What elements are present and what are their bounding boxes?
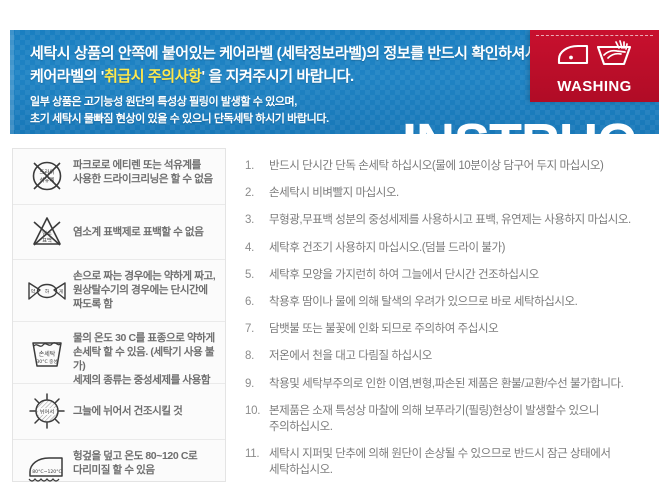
- list-item-text: 세탁후 모양을 가지런히 하여 그늘에서 단시간 건조하십시오: [269, 267, 655, 283]
- list-item-number: 2.: [245, 185, 269, 201]
- care-symbol-row: 염소 표백 염소계 표백제로 표백할 수 없음: [13, 205, 225, 261]
- care-instruction-banner: INSTRUC 세탁시 상품의 안쪽에 붙어있는 케어라벨 (세탁정보라벨)의 …: [10, 30, 659, 134]
- banner-line-2-highlight: 취급시 주의사항: [104, 68, 202, 85]
- list-item-text: 세탁후 건조기 사용하지 마십시오.(덤블 드라이 불가): [269, 240, 655, 256]
- care-symbol-row: 80°C~120°C 헝겊을 덮고 온도 80~120 C로 다리미질 할 수 …: [13, 440, 225, 498]
- care-symbol-row: 손세탁 30°C 중성 물의 온도 30 C를 표종으로 약하게 손세탁 할 수…: [13, 322, 225, 384]
- list-item: 3. 무형광,무표백 성분의 중성세제를 사용하시고 표백, 유연제는 사용하지…: [245, 212, 655, 228]
- list-item-line: 주의하십시오.: [269, 419, 655, 435]
- washing-badge: WASHING: [530, 30, 659, 102]
- care-symbol-line: 헝겊을 덮고 온도 80~120 C로: [73, 450, 197, 462]
- care-symbol-panel: 드라이 석유계 파크로로 에티렌 또는 석유계를 사용한 드라이크리닝은 할 수…: [12, 148, 226, 482]
- list-item-number: 9.: [245, 376, 269, 392]
- care-symbol-line: 파크로로 에티렌 또는 석유계를: [73, 159, 201, 171]
- list-item-number: 10.: [245, 403, 269, 419]
- list-item-text: 세탁시 지퍼및 단추에 의해 원단이 손상될 수 있으므로 반드시 잠근 상태에…: [269, 446, 655, 478]
- list-item-text: 착용및 세탁부주의로 인한 이염,변형,파손된 제품은 환불/교환/수선 불가합…: [269, 376, 655, 392]
- list-item-number: 7.: [245, 321, 269, 337]
- care-symbol-row: 약 하 게 손으로 짜는 경우에는 약하게 짜고, 원상탈수기의 경우에는 단시…: [13, 260, 225, 322]
- list-item-number: 3.: [245, 212, 269, 228]
- banner-left-edge: [10, 30, 14, 134]
- shade-flat-dry-icon: 뉘어서: [21, 384, 73, 439]
- list-item-line: 본제품은 소재 특성상 마찰에 의해 보푸라기(필링)현상이 발생할수 있으니: [269, 403, 655, 419]
- svg-text:표백: 표백: [42, 236, 52, 244]
- list-item: 5. 세탁후 모양을 가지런히 하여 그늘에서 단시간 건조하십시오: [245, 267, 655, 283]
- care-symbol-line: 원상탈수기의 경우에는 단시간에: [73, 284, 208, 296]
- banner-line-2: 케어라벨의 '취급시 주의사항' 을 지켜주시기 바랍니다.: [30, 65, 530, 88]
- list-item-line: 세탁후 모양을 가지런히 하여 그늘에서 단시간 건조하십시오: [269, 267, 655, 283]
- care-symbol-line: 손으로 짜는 경우에는 약하게 짜고,: [73, 270, 215, 282]
- iron-icon: [556, 42, 590, 73]
- list-item-line: 착용후 땀이나 물에 의해 탈색의 우려가 있으므로 바로 세탁하십시오.: [269, 294, 655, 310]
- care-symbol-row: 드라이 석유계 파크로로 에티렌 또는 석유계를 사용한 드라이크리닝은 할 수…: [13, 149, 225, 205]
- banner-text-block: 세탁시 상품의 안쪽에 붙어있는 케어라벨 (세탁정보라벨)의 정보를 반드시 …: [30, 42, 530, 128]
- list-item-text: 무형광,무표백 성분의 중성세제를 사용하시고 표백, 유연제는 사용하지 마십…: [269, 212, 655, 228]
- list-item-line: 저온에서 천을 대고 다림질 하십시오: [269, 348, 655, 364]
- banner-subline-2: 초기 세탁시 물빠짐 현상이 있을 수 있으니 단독세탁 하시기 바랍니다.: [30, 111, 530, 128]
- banner-line-1: 세탁시 상품의 안쪽에 붙어있는 케어라벨 (세탁정보라벨)의 정보를 반드시 …: [30, 42, 530, 65]
- svg-text:손세탁: 손세탁: [39, 350, 56, 358]
- handwash-tub-icon: [595, 38, 633, 73]
- care-symbol-line: 짜도록 함: [73, 298, 113, 310]
- list-item-line: 세탁하십시오.: [269, 462, 655, 478]
- list-item: 10. 본제품은 소재 특성상 마찰에 의해 보푸라기(필링)현상이 발생할수 …: [245, 403, 655, 435]
- care-symbol-text: 파크로로 에티렌 또는 석유계를 사용한 드라이크리닝은 할 수 없음: [73, 149, 217, 186]
- svg-text:80°C~120°C: 80°C~120°C: [32, 469, 61, 475]
- list-item: 4. 세탁후 건조기 사용하지 마십시오.(덤블 드라이 불가): [245, 240, 655, 256]
- care-symbol-text: 그늘에 뉘어서 건조시킬 것: [73, 404, 217, 418]
- list-item-text: 착용후 땀이나 물에 의해 탈색의 우려가 있으므로 바로 세탁하십시오.: [269, 294, 655, 310]
- care-symbol-line: 다리미질 할 수 있음: [73, 464, 155, 476]
- list-item-line: 반드시 단시간 단독 손세탁 하십시오(물에 10분이상 담구어 두지 마십시오…: [269, 158, 655, 174]
- list-item: 7. 담뱃불 또는 불꽃에 인화 되므로 주의하여 주십시오: [245, 321, 655, 337]
- no-drycleaning-icon: 드라이 석유계: [21, 149, 73, 204]
- badge-icon-group: [530, 41, 659, 73]
- list-item-text: 반드시 단시간 단독 손세탁 하십시오(물에 10분이상 담구어 두지 마십시오…: [269, 158, 655, 174]
- svg-text:드라이: 드라이: [40, 168, 55, 176]
- list-item-number: 11.: [245, 446, 269, 462]
- list-item-line: 무형광,무표백 성분의 중성세제를 사용하시고 표백, 유연제는 사용하지 마십…: [269, 212, 655, 228]
- list-item: 11. 세탁시 지퍼및 단추에 의해 원단이 손상될 수 있으므로 반드시 잠근…: [245, 446, 655, 478]
- badge-dashed-rule: [536, 35, 653, 36]
- svg-text:하: 하: [45, 288, 50, 295]
- wring-gently-icon: 약 하 게: [21, 260, 73, 321]
- list-item-line: 담뱃불 또는 불꽃에 인화 되므로 주의하여 주십시오: [269, 321, 655, 337]
- handwash-30c-icon: 손세탁 30°C 중성: [21, 322, 73, 383]
- iron-80-120-icon: 80°C~120°C: [21, 440, 73, 498]
- list-item: 2. 손세탁시 비벼빨지 마십시오.: [245, 185, 655, 201]
- list-item-number: 5.: [245, 267, 269, 283]
- svg-text:게: 게: [59, 288, 63, 295]
- svg-text:석유계: 석유계: [40, 176, 55, 184]
- banner-line-2-suffix: ' 을 지켜주시기 바랍니다.: [202, 68, 354, 85]
- list-item-number: 8.: [245, 348, 269, 364]
- care-symbol-line: 손세탁 할 수 있음. (세탁기 사용 불가): [73, 346, 214, 372]
- list-item-number: 6.: [245, 294, 269, 310]
- care-symbol-line: 그늘에 뉘어서 건조시킬 것: [73, 405, 182, 417]
- list-item-text: 담뱃불 또는 불꽃에 인화 되므로 주의하여 주십시오: [269, 321, 655, 337]
- care-symbol-row: 뉘어서 그늘에 뉘어서 건조시킬 것: [13, 384, 225, 440]
- banner-subline-1: 일부 상품은 고기능성 원단의 특성상 필링이 발생할 수 있으며,: [30, 94, 530, 111]
- instruction-list: 1. 반드시 단시간 단독 손세탁 하십시오(물에 10분이상 담구어 두지 마…: [245, 158, 655, 489]
- care-symbol-line: 사용한 드라이크리닝은 할 수 없음: [73, 173, 213, 185]
- badge-label: WASHING: [530, 78, 659, 95]
- list-item-line: 손세탁시 비벼빨지 마십시오.: [269, 185, 655, 201]
- svg-text:염소: 염소: [42, 229, 52, 237]
- list-item-text: 손세탁시 비벼빨지 마십시오.: [269, 185, 655, 201]
- list-item: 6. 착용후 땀이나 물에 의해 탈색의 우려가 있으므로 바로 세탁하십시오.: [245, 294, 655, 310]
- list-item: 8. 저온에서 천을 대고 다림질 하십시오: [245, 348, 655, 364]
- list-item-number: 4.: [245, 240, 269, 256]
- svg-text:약: 약: [31, 288, 36, 295]
- no-chlorine-bleach-icon: 염소 표백: [21, 205, 73, 260]
- care-symbol-text: 물의 온도 30 C를 표종으로 약하게 손세탁 할 수 있음. (세탁기 사용…: [73, 322, 217, 387]
- svg-text:30°C 중성: 30°C 중성: [36, 358, 57, 365]
- list-item: 9. 착용및 세탁부주의로 인한 이염,변형,파손된 제품은 환불/교환/수선 …: [245, 376, 655, 392]
- care-symbol-line: 물의 온도 30 C를 표종으로 약하게: [73, 332, 215, 344]
- list-item-line: 세탁후 건조기 사용하지 마십시오.(덤블 드라이 불가): [269, 240, 655, 256]
- care-symbol-text: 헝겊을 덮고 온도 80~120 C로 다리미질 할 수 있음: [73, 440, 217, 477]
- list-item-number: 1.: [245, 158, 269, 174]
- list-item: 1. 반드시 단시간 단독 손세탁 하십시오(물에 10분이상 담구어 두지 마…: [245, 158, 655, 174]
- care-symbol-text: 염소계 표백제로 표백할 수 없음: [73, 225, 217, 239]
- care-symbol-text: 손으로 짜는 경우에는 약하게 짜고, 원상탈수기의 경우에는 단시간에 짜도록…: [73, 260, 217, 311]
- care-symbol-line: 염소계 표백제로 표백할 수 없음: [73, 226, 203, 238]
- list-item-text: 본제품은 소재 특성상 마찰에 의해 보푸라기(필링)현상이 발생할수 있으니 …: [269, 403, 655, 435]
- list-item-line: 착용및 세탁부주의로 인한 이염,변형,파손된 제품은 환불/교환/수선 불가합…: [269, 376, 655, 392]
- list-item-text: 저온에서 천을 대고 다림질 하십시오: [269, 348, 655, 364]
- list-item-line: 세탁시 지퍼및 단추에 의해 원단이 손상될 수 있으므로 반드시 잠근 상태에…: [269, 446, 655, 462]
- svg-text:뉘어서: 뉘어서: [40, 408, 55, 416]
- care-symbol-line: 세제의 종류는 중성세제를 사용함: [73, 374, 210, 386]
- banner-line-2-prefix: 케어라벨의 ': [30, 68, 104, 85]
